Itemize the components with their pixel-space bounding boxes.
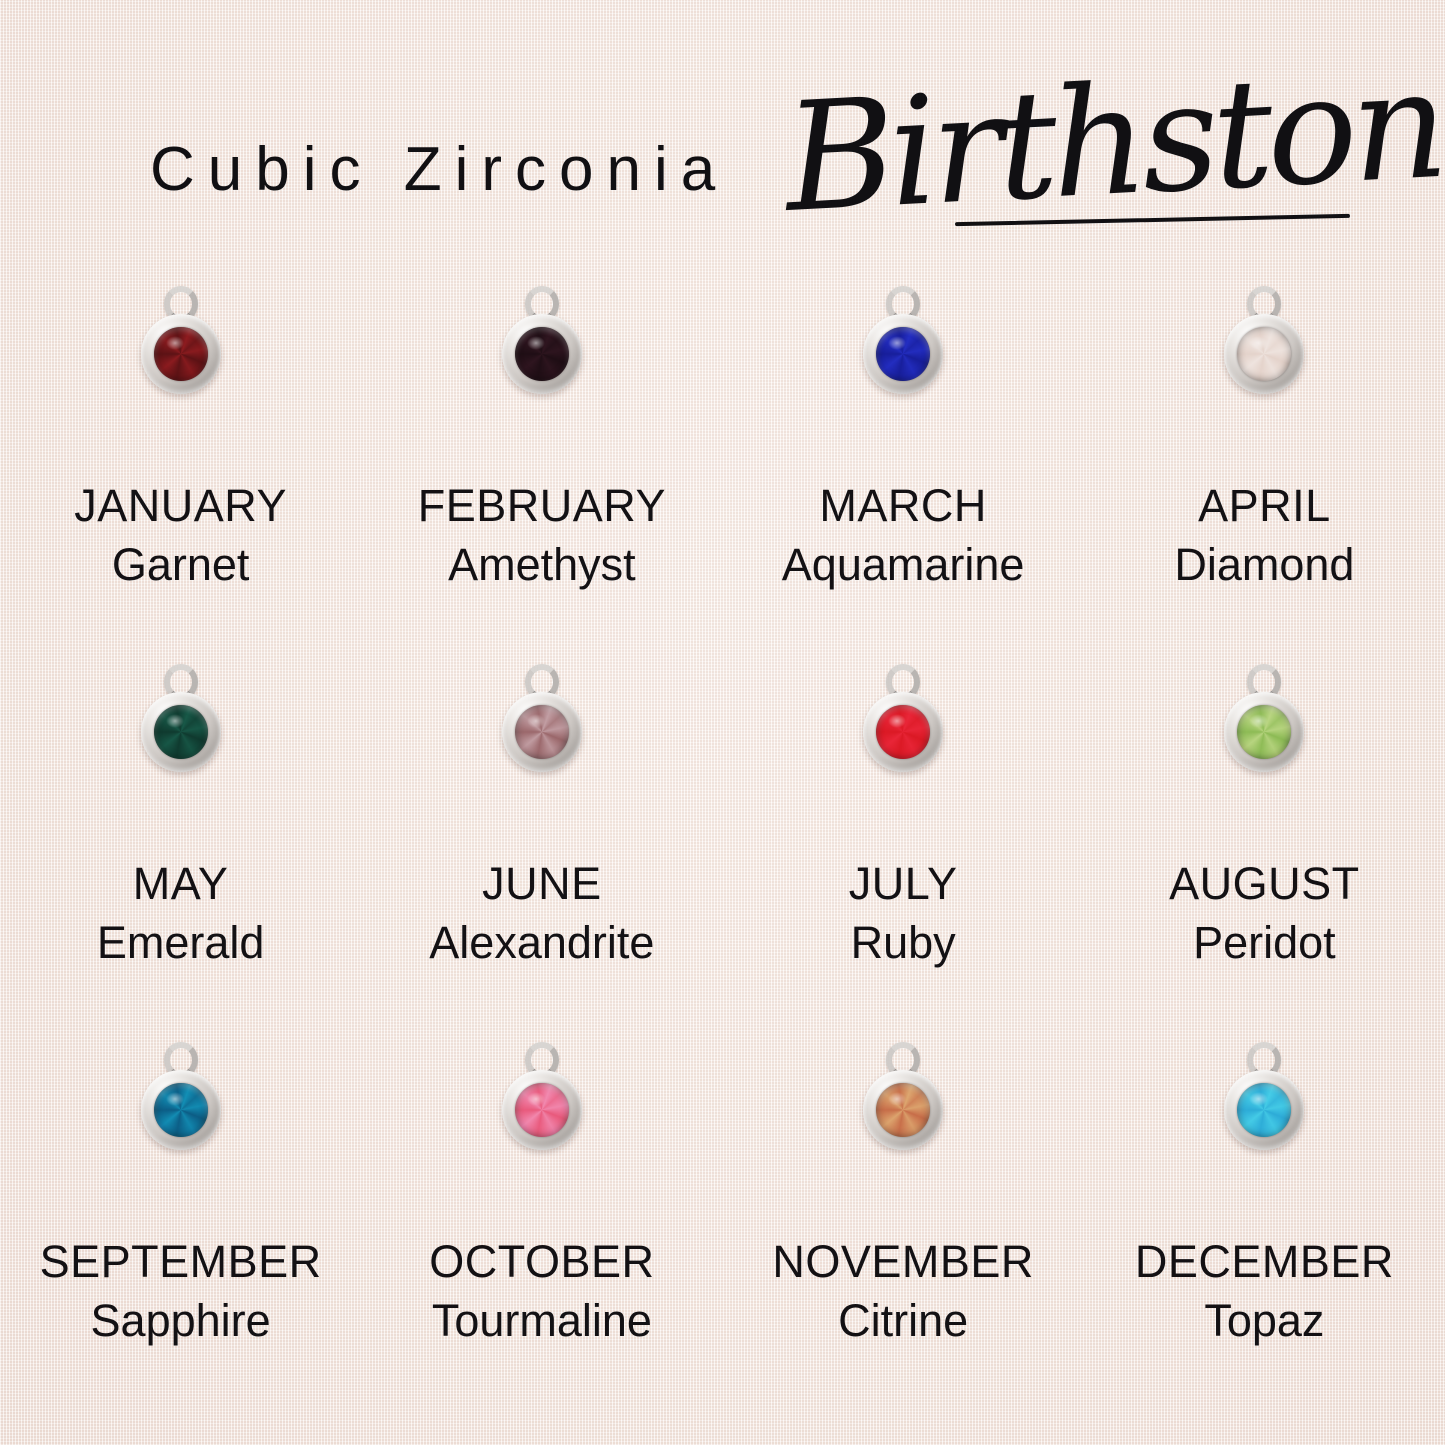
birthstone-cell[interactable]: FEBRUARYAmethyst — [361, 270, 722, 648]
month-label: JUNE — [429, 861, 654, 906]
month-label: AUGUST — [1169, 861, 1360, 906]
gemstone-glint-icon — [527, 714, 545, 728]
gemstone-facets — [1237, 327, 1291, 381]
birthstone-chart-page: Cubic Zirconia Birthstones JANUARYGarnet… — [0, 0, 1445, 1445]
charm-august[interactable] — [1209, 658, 1319, 783]
bezel-setting — [1224, 314, 1304, 394]
charm-june[interactable] — [487, 658, 597, 783]
birthstone-labels: SEPTEMBERSapphire — [40, 1239, 322, 1343]
gemstone-facets — [515, 1083, 569, 1137]
gemstone-facets — [515, 705, 569, 759]
gemstone-glint-icon — [527, 336, 545, 350]
gemstone-facets — [154, 705, 208, 759]
gemstone — [515, 705, 569, 759]
bezel-setting — [1224, 692, 1304, 772]
gemstone-facets — [154, 1083, 208, 1137]
birthstone-labels: APRILDiamond — [1174, 483, 1354, 587]
charm-october[interactable] — [487, 1036, 597, 1161]
charm-november[interactable] — [848, 1036, 958, 1161]
birthstone-cell[interactable]: JULYRuby — [723, 648, 1084, 1026]
gemstone-glint-icon — [1249, 1092, 1267, 1106]
stone-label: Diamond — [1174, 542, 1354, 587]
birthstone-cell[interactable]: JUNEAlexandrite — [361, 648, 722, 1026]
month-label: OCTOBER — [429, 1239, 654, 1284]
birthstone-cell[interactable]: JANUARYGarnet — [0, 270, 361, 648]
birthstone-labels: MARCHAquamarine — [782, 483, 1025, 587]
stone-label: Aquamarine — [782, 542, 1025, 587]
stone-label: Emerald — [97, 920, 265, 965]
charm-july[interactable] — [848, 658, 958, 783]
bezel-setting — [502, 1070, 582, 1150]
bezel-setting — [141, 1070, 221, 1150]
stone-label: Garnet — [74, 542, 287, 587]
birthstone-labels: AUGUSTPeridot — [1169, 861, 1360, 965]
month-label: JULY — [849, 861, 958, 906]
birthstone-labels: NOVEMBERCitrine — [772, 1239, 1034, 1343]
gemstone-glint-icon — [166, 714, 184, 728]
gemstone — [1237, 1083, 1291, 1137]
birthstone-labels: DECEMBERTopaz — [1135, 1239, 1394, 1343]
birthstone-labels: JUNEAlexandrite — [429, 861, 654, 965]
month-label: MAY — [97, 861, 265, 906]
gemstone — [1237, 705, 1291, 759]
birthstone-cell[interactable]: DECEMBERTopaz — [1084, 1026, 1445, 1404]
gemstone — [1237, 327, 1291, 381]
gemstone-facets — [1237, 705, 1291, 759]
bezel-setting — [502, 692, 582, 772]
gemstone-glint-icon — [1249, 336, 1267, 350]
gemstone-facets — [876, 327, 930, 381]
gemstone-facets — [515, 327, 569, 381]
charm-september[interactable] — [126, 1036, 236, 1161]
bezel-setting — [863, 314, 943, 394]
gemstone — [154, 705, 208, 759]
gemstone-glint-icon — [166, 1092, 184, 1106]
stone-label: Sapphire — [40, 1298, 322, 1343]
gemstone-glint-icon — [888, 714, 906, 728]
gemstone-glint-icon — [527, 1092, 545, 1106]
birthstone-labels: FEBRUARYAmethyst — [418, 483, 666, 587]
birthstone-cell[interactable]: AUGUSTPeridot — [1084, 648, 1445, 1026]
gemstone-facets — [876, 705, 930, 759]
month-label: SEPTEMBER — [40, 1239, 322, 1284]
stone-label: Peridot — [1169, 920, 1360, 965]
title-main-text: Cubic Zirconia — [150, 134, 728, 205]
gemstone — [876, 1083, 930, 1137]
charm-january[interactable] — [126, 280, 236, 405]
birthstone-labels: JULYRuby — [849, 861, 958, 965]
gemstone-glint-icon — [888, 1092, 906, 1106]
birthstone-cell[interactable]: NOVEMBERCitrine — [723, 1026, 1084, 1404]
birthstone-labels: OCTOBERTourmaline — [429, 1239, 654, 1343]
stone-label: Amethyst — [418, 542, 666, 587]
gemstone — [876, 327, 930, 381]
charm-april[interactable] — [1209, 280, 1319, 405]
stone-label: Alexandrite — [429, 920, 654, 965]
gemstone-glint-icon — [166, 336, 184, 350]
birthstone-cell[interactable]: MARCHAquamarine — [723, 270, 1084, 648]
month-label: JANUARY — [74, 483, 287, 528]
month-label: MARCH — [782, 483, 1025, 528]
bezel-setting — [863, 692, 943, 772]
page-title: Cubic Zirconia Birthstones — [0, 96, 1445, 296]
month-label: DECEMBER — [1135, 1239, 1394, 1284]
charm-may[interactable] — [126, 658, 236, 783]
charm-december[interactable] — [1209, 1036, 1319, 1161]
bezel-setting — [863, 1070, 943, 1150]
stone-label: Ruby — [849, 920, 958, 965]
birthstone-cell[interactable]: APRILDiamond — [1084, 270, 1445, 648]
gemstone-facets — [1237, 1083, 1291, 1137]
gemstone-facets — [876, 1083, 930, 1137]
month-label: APRIL — [1174, 483, 1354, 528]
birthstone-labels: MAYEmerald — [97, 861, 265, 965]
birthstone-labels: JANUARYGarnet — [74, 483, 287, 587]
gemstone — [154, 1083, 208, 1137]
stone-label: Citrine — [772, 1298, 1034, 1343]
gemstone — [876, 705, 930, 759]
gemstone-facets — [154, 327, 208, 381]
gemstone — [154, 327, 208, 381]
birthstone-cell[interactable]: OCTOBERTourmaline — [361, 1026, 722, 1404]
gemstone-glint-icon — [1249, 714, 1267, 728]
stone-label: Tourmaline — [429, 1298, 654, 1343]
month-label: NOVEMBER — [772, 1239, 1034, 1284]
bezel-setting — [141, 692, 221, 772]
birthstone-cell[interactable]: MAYEmerald — [0, 648, 361, 1026]
bezel-setting — [502, 314, 582, 394]
gemstone-glint-icon — [888, 336, 906, 350]
charm-february[interactable] — [487, 280, 597, 405]
gemstone — [515, 327, 569, 381]
charm-march[interactable] — [848, 280, 958, 405]
birthstone-cell[interactable]: SEPTEMBERSapphire — [0, 1026, 361, 1404]
gemstone — [515, 1083, 569, 1137]
bezel-setting — [141, 314, 221, 394]
stone-label: Topaz — [1135, 1298, 1394, 1343]
birthstone-grid: JANUARYGarnetFEBRUARYAmethystMARCHAquama… — [0, 270, 1445, 1404]
bezel-setting — [1224, 1070, 1304, 1150]
month-label: FEBRUARY — [418, 483, 666, 528]
